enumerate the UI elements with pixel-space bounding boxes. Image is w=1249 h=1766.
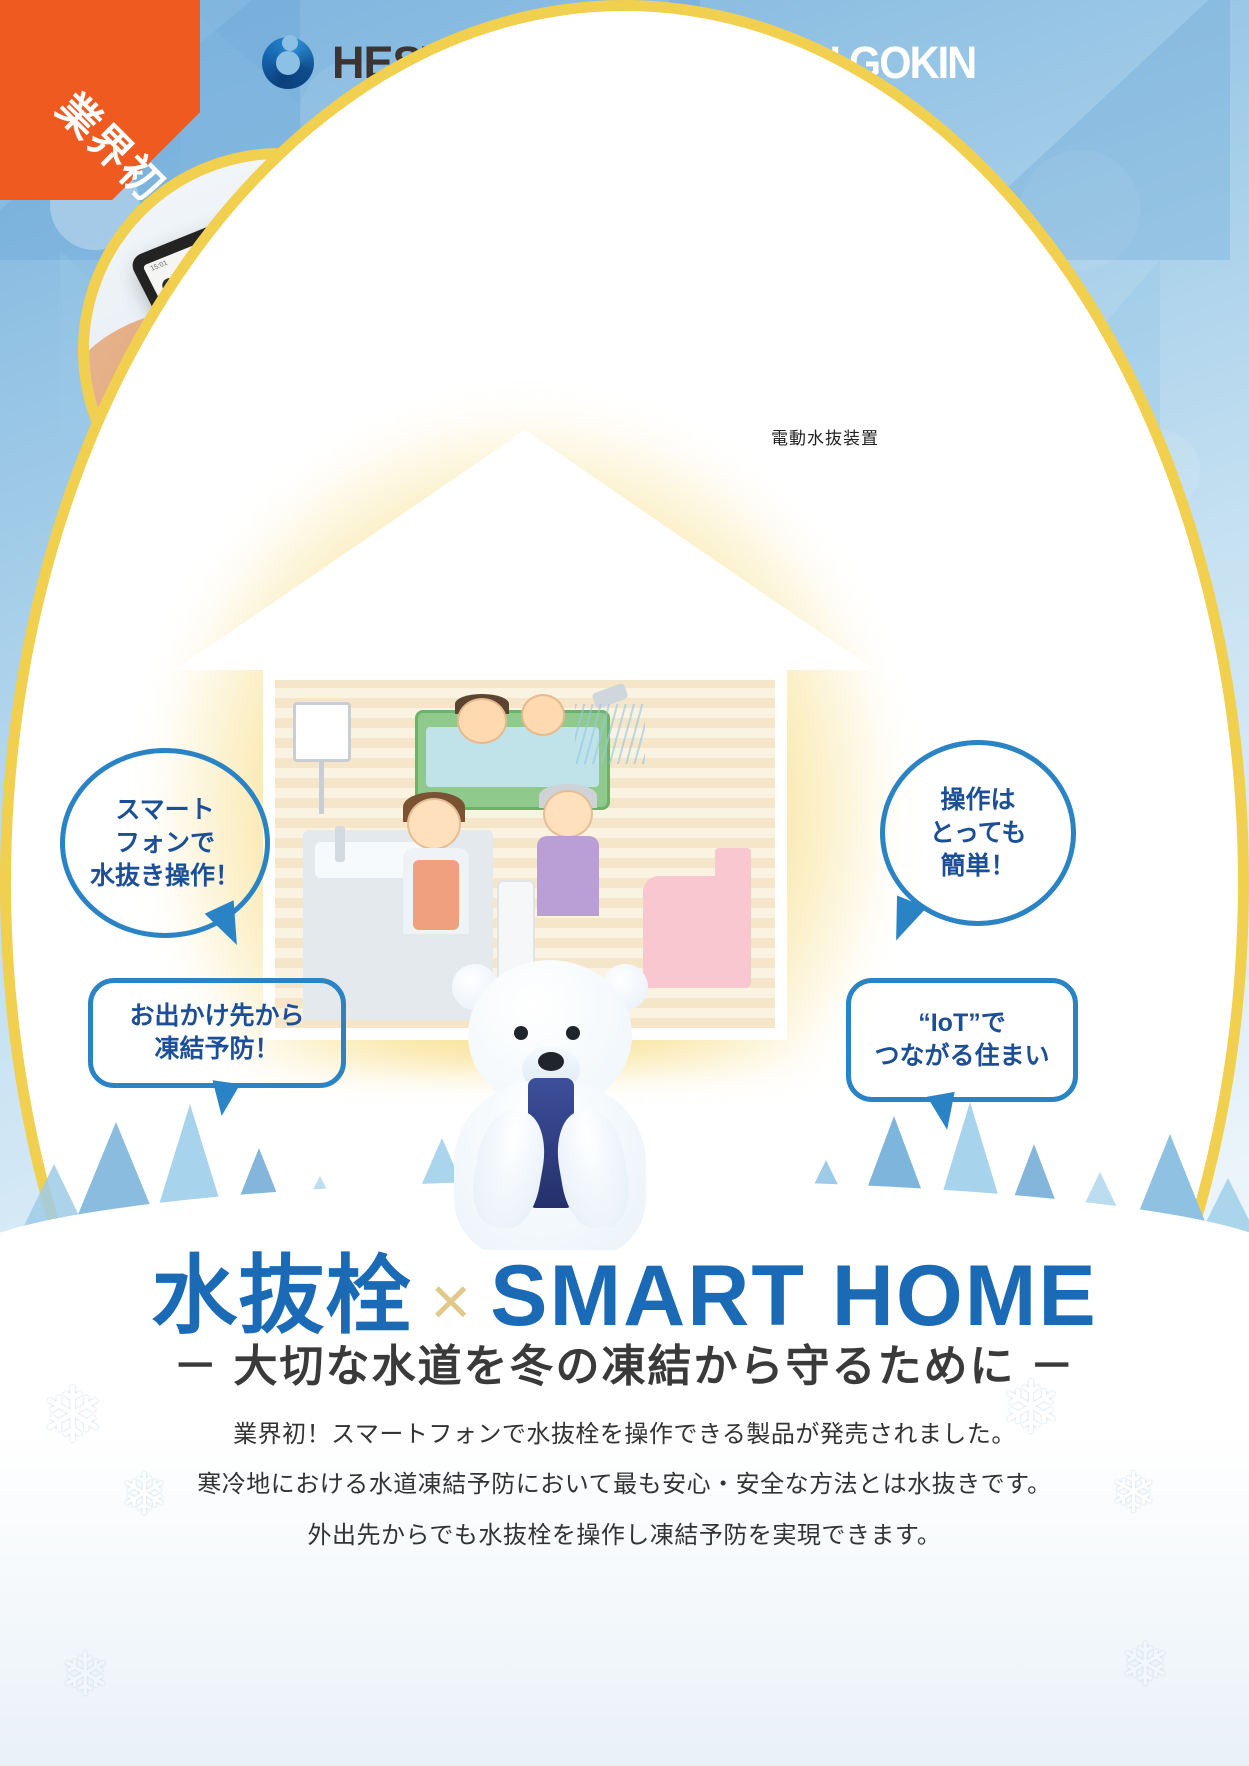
bear-eye-right [566,1026,580,1040]
faucet-icon [335,826,345,862]
father-head [457,698,507,744]
panel-stand [319,762,324,814]
bear-eye-left [514,1026,528,1040]
grandfather-body [537,836,599,916]
bubble-text: 操作は とっても 簡単！ [930,784,1027,883]
bath-water [426,727,599,787]
snowflake-icon: ❄ [60,1640,110,1710]
body-line: 外出先からでも水抜栓を操作し凍結予防を実現できます。 [0,1511,1249,1561]
snowflake-icon: ❄ [120,1460,169,1528]
bubble-tail [927,1092,961,1132]
bubble-tail [208,1080,240,1118]
body-line: 寒冷地における水道凍結予防において最も安心・安全な方法とは水抜きです。 [0,1460,1249,1510]
bubble-easy-operation: 操作は とっても 簡単！ [880,740,1076,926]
grandfather-head [543,790,593,838]
bear-nose [538,1052,564,1071]
snowflake-icon: ❄ [1110,1460,1157,1526]
toilet-tank [715,848,751,892]
bubble-text: スマート フォンで 水抜き操作！ [90,794,240,893]
polar-bear-mascot [440,960,660,1260]
house-illustration [175,430,875,1050]
poster-root: 業界初！ HESTA OKURA × HIKARI GOKIN 15:01 お帰… [0,0,1249,1766]
footer-section: 水抜栓×SMART HOME － 大切な水道を冬の凍結から守るために － 業界初… [0,1250,1249,1766]
title-cross-icon: × [430,1262,472,1340]
child-head [521,694,565,736]
bubble-smartphone-operation: スマート フォンで 水抜き操作！ [60,748,270,938]
wall-control-panel [293,702,351,762]
snowflake-icon: ❄ [40,1370,105,1461]
mother-apron [413,860,459,930]
house-roof [175,430,875,670]
bubble-away-prevention: お出かけ先から 凍結予防！ [88,978,346,1088]
snowflake-icon: ❄ [1120,1630,1170,1700]
hesta-ring-logo-icon [262,37,314,89]
bubble-text: お出かけ先から 凍結予防！ [129,1000,304,1066]
bubble-text: “IoT”で つながる住まい [874,1007,1049,1073]
bubble-iot-home: “IoT”で つながる住まい [846,978,1078,1102]
snowflake-icon: ❄ [1000,1365,1062,1451]
mother-head [407,798,461,850]
shower-spray [575,704,645,764]
